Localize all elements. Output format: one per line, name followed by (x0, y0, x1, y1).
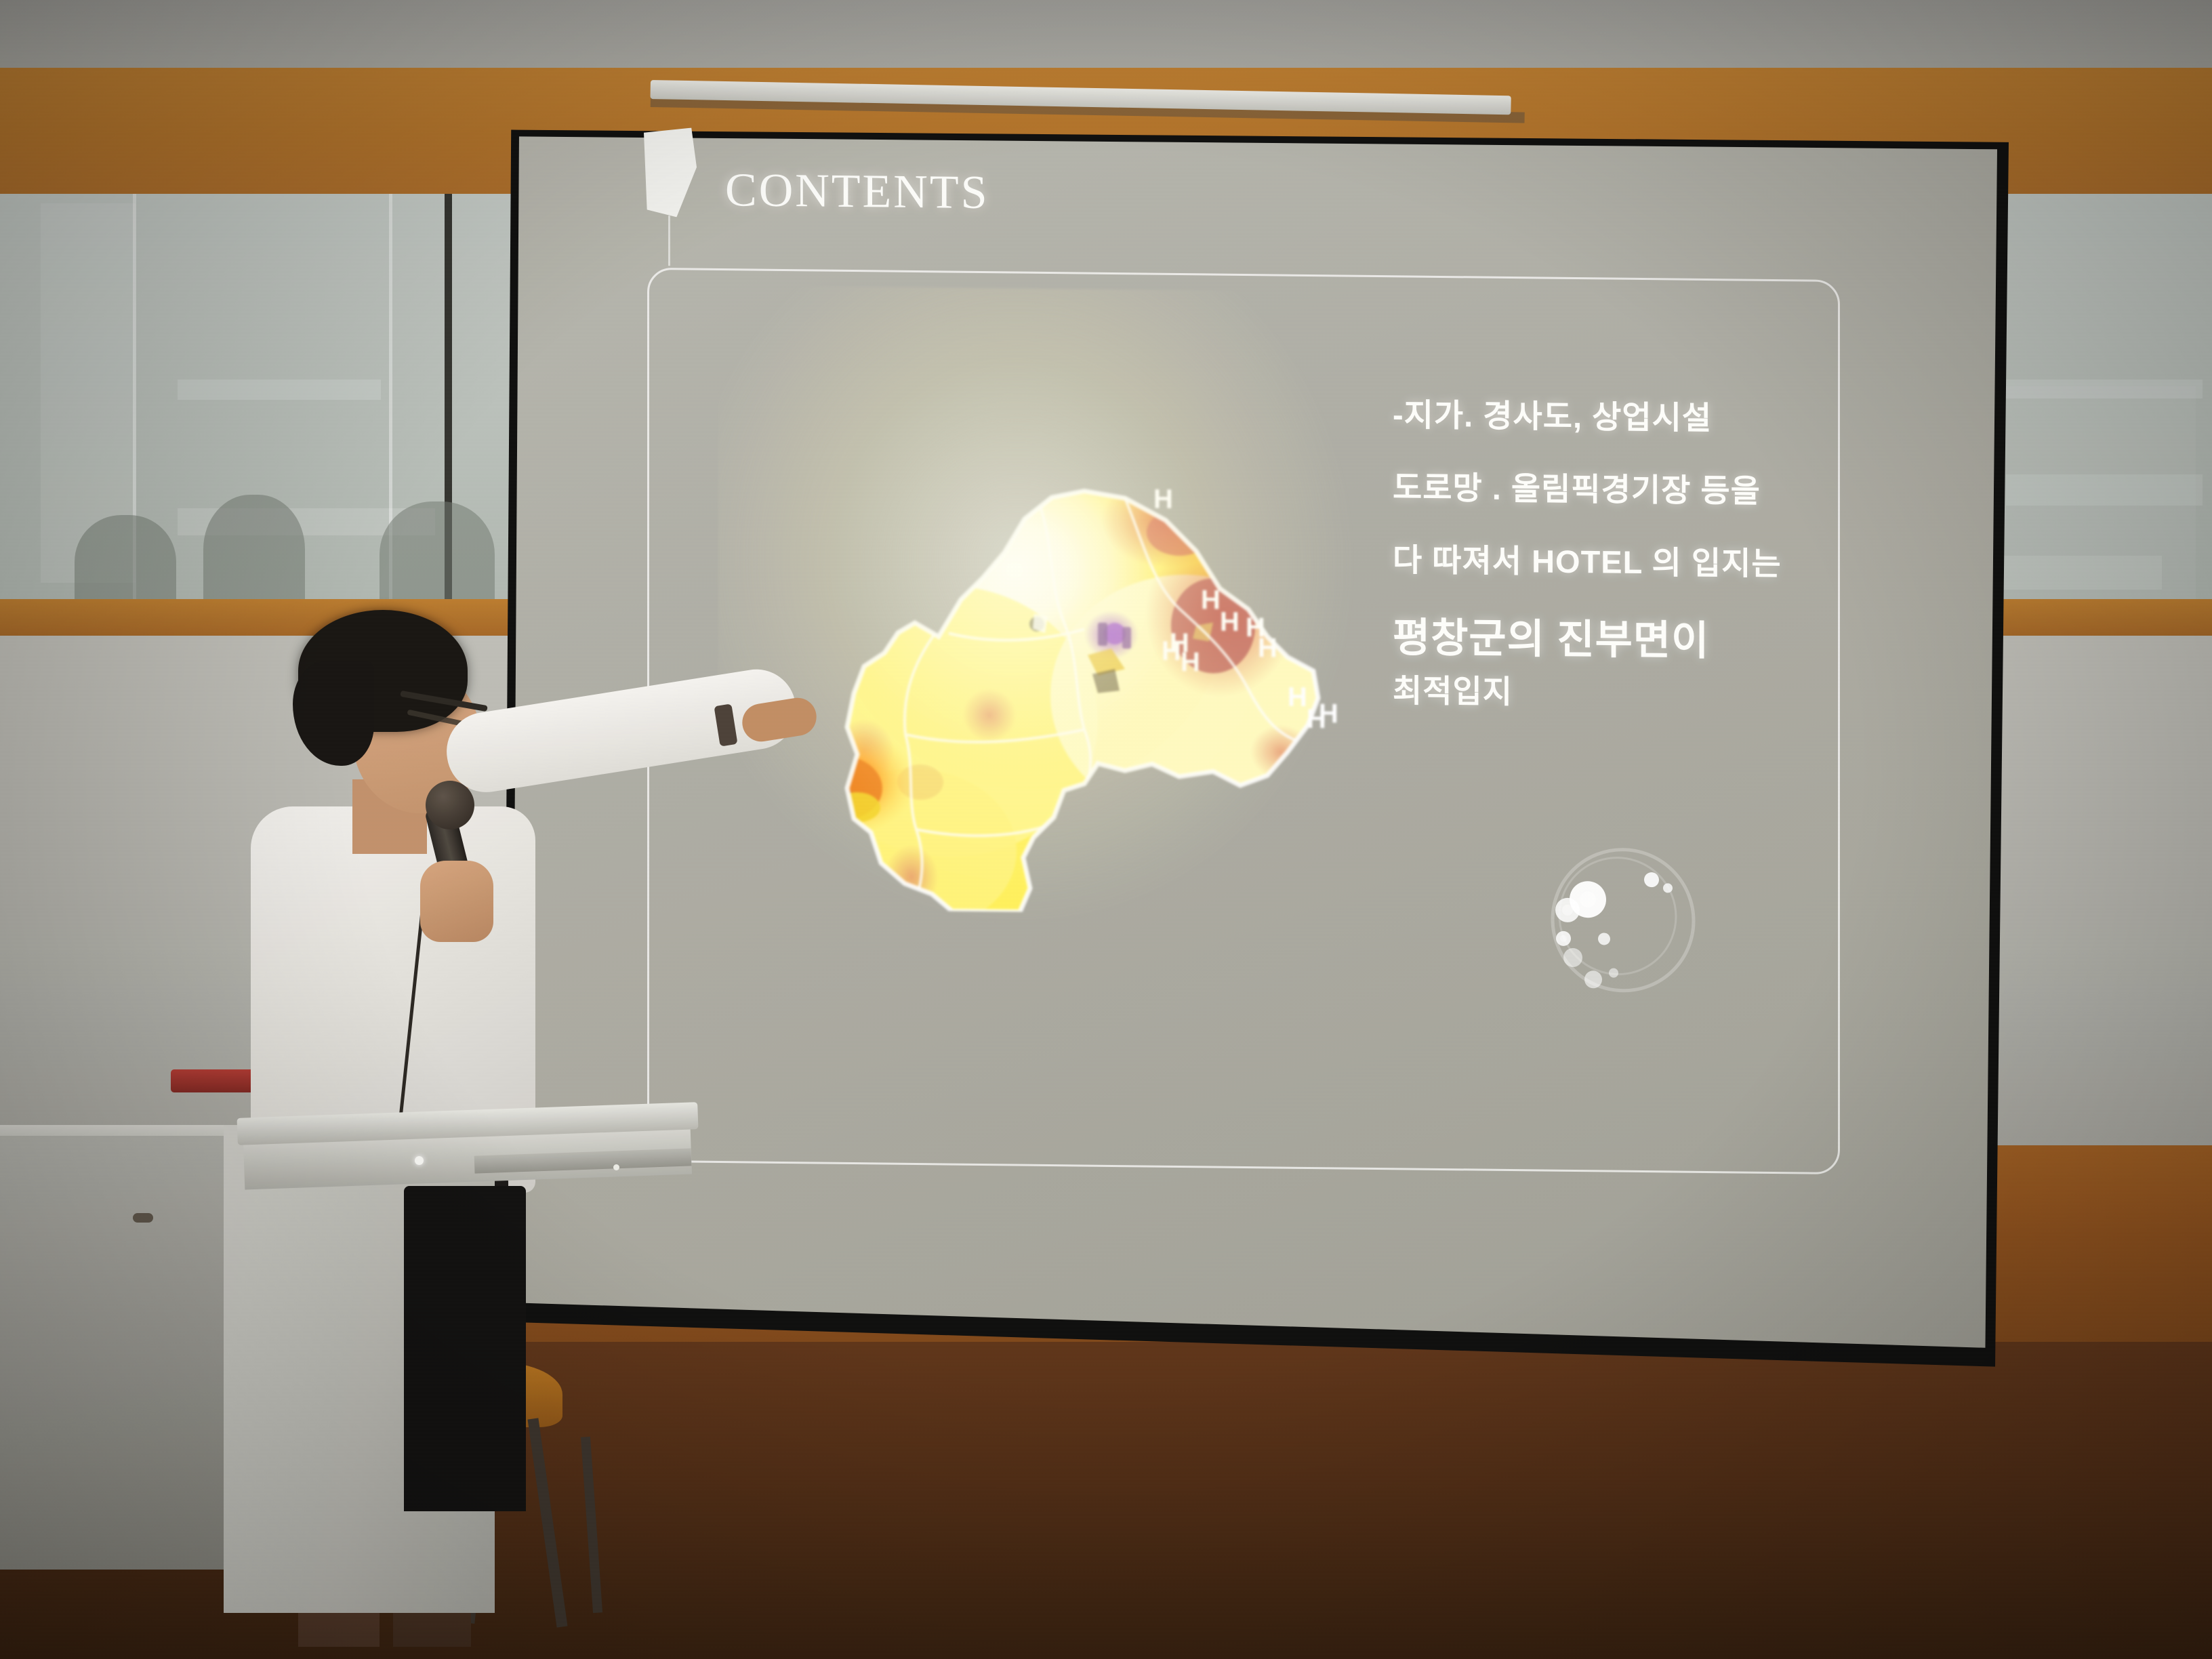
body-line-3: 다 따져서 HOTEL 의 입지는 (1393, 539, 1826, 585)
lectern-shadow-panel (404, 1186, 526, 1511)
cabinet (0, 1136, 239, 1570)
cabinet-handle[interactable] (133, 1213, 153, 1223)
person-silhouette (203, 495, 305, 613)
ceiling (0, 0, 2212, 76)
body-line-1: -지가. 경사도, 상업시설 (1393, 394, 1826, 440)
glass-reflection (178, 380, 381, 400)
title-stem-line (668, 216, 670, 266)
body-line-4: 평창군의 진부면이 (1393, 612, 1826, 670)
lectern-indicator-light (613, 1164, 619, 1170)
map-projector-glow (718, 285, 1369, 943)
page-title: CONTENTS (725, 163, 989, 220)
lectern-indicator-light (415, 1156, 424, 1165)
body-line-2: 도로망 . 올림픽경기장 등을 (1393, 466, 1826, 512)
bubble-rings-graphic (1528, 839, 1698, 1010)
slide-body-text: -지가. 경사도, 상업시설 도로망 . 올림픽경기장 등을 다 따져서 HOT… (1393, 394, 1826, 747)
red-object-on-ledge (171, 1069, 256, 1092)
suitability-heatmap: H H H H H H H H H H H (745, 312, 1342, 915)
microphone-icon (426, 781, 474, 829)
body-line-5: 최적입지 (1393, 670, 1826, 716)
pentagon-bookmark-icon (644, 127, 697, 218)
presenter-mic-hand (420, 861, 493, 942)
photo-scene: CONTENTS (0, 0, 2212, 1659)
